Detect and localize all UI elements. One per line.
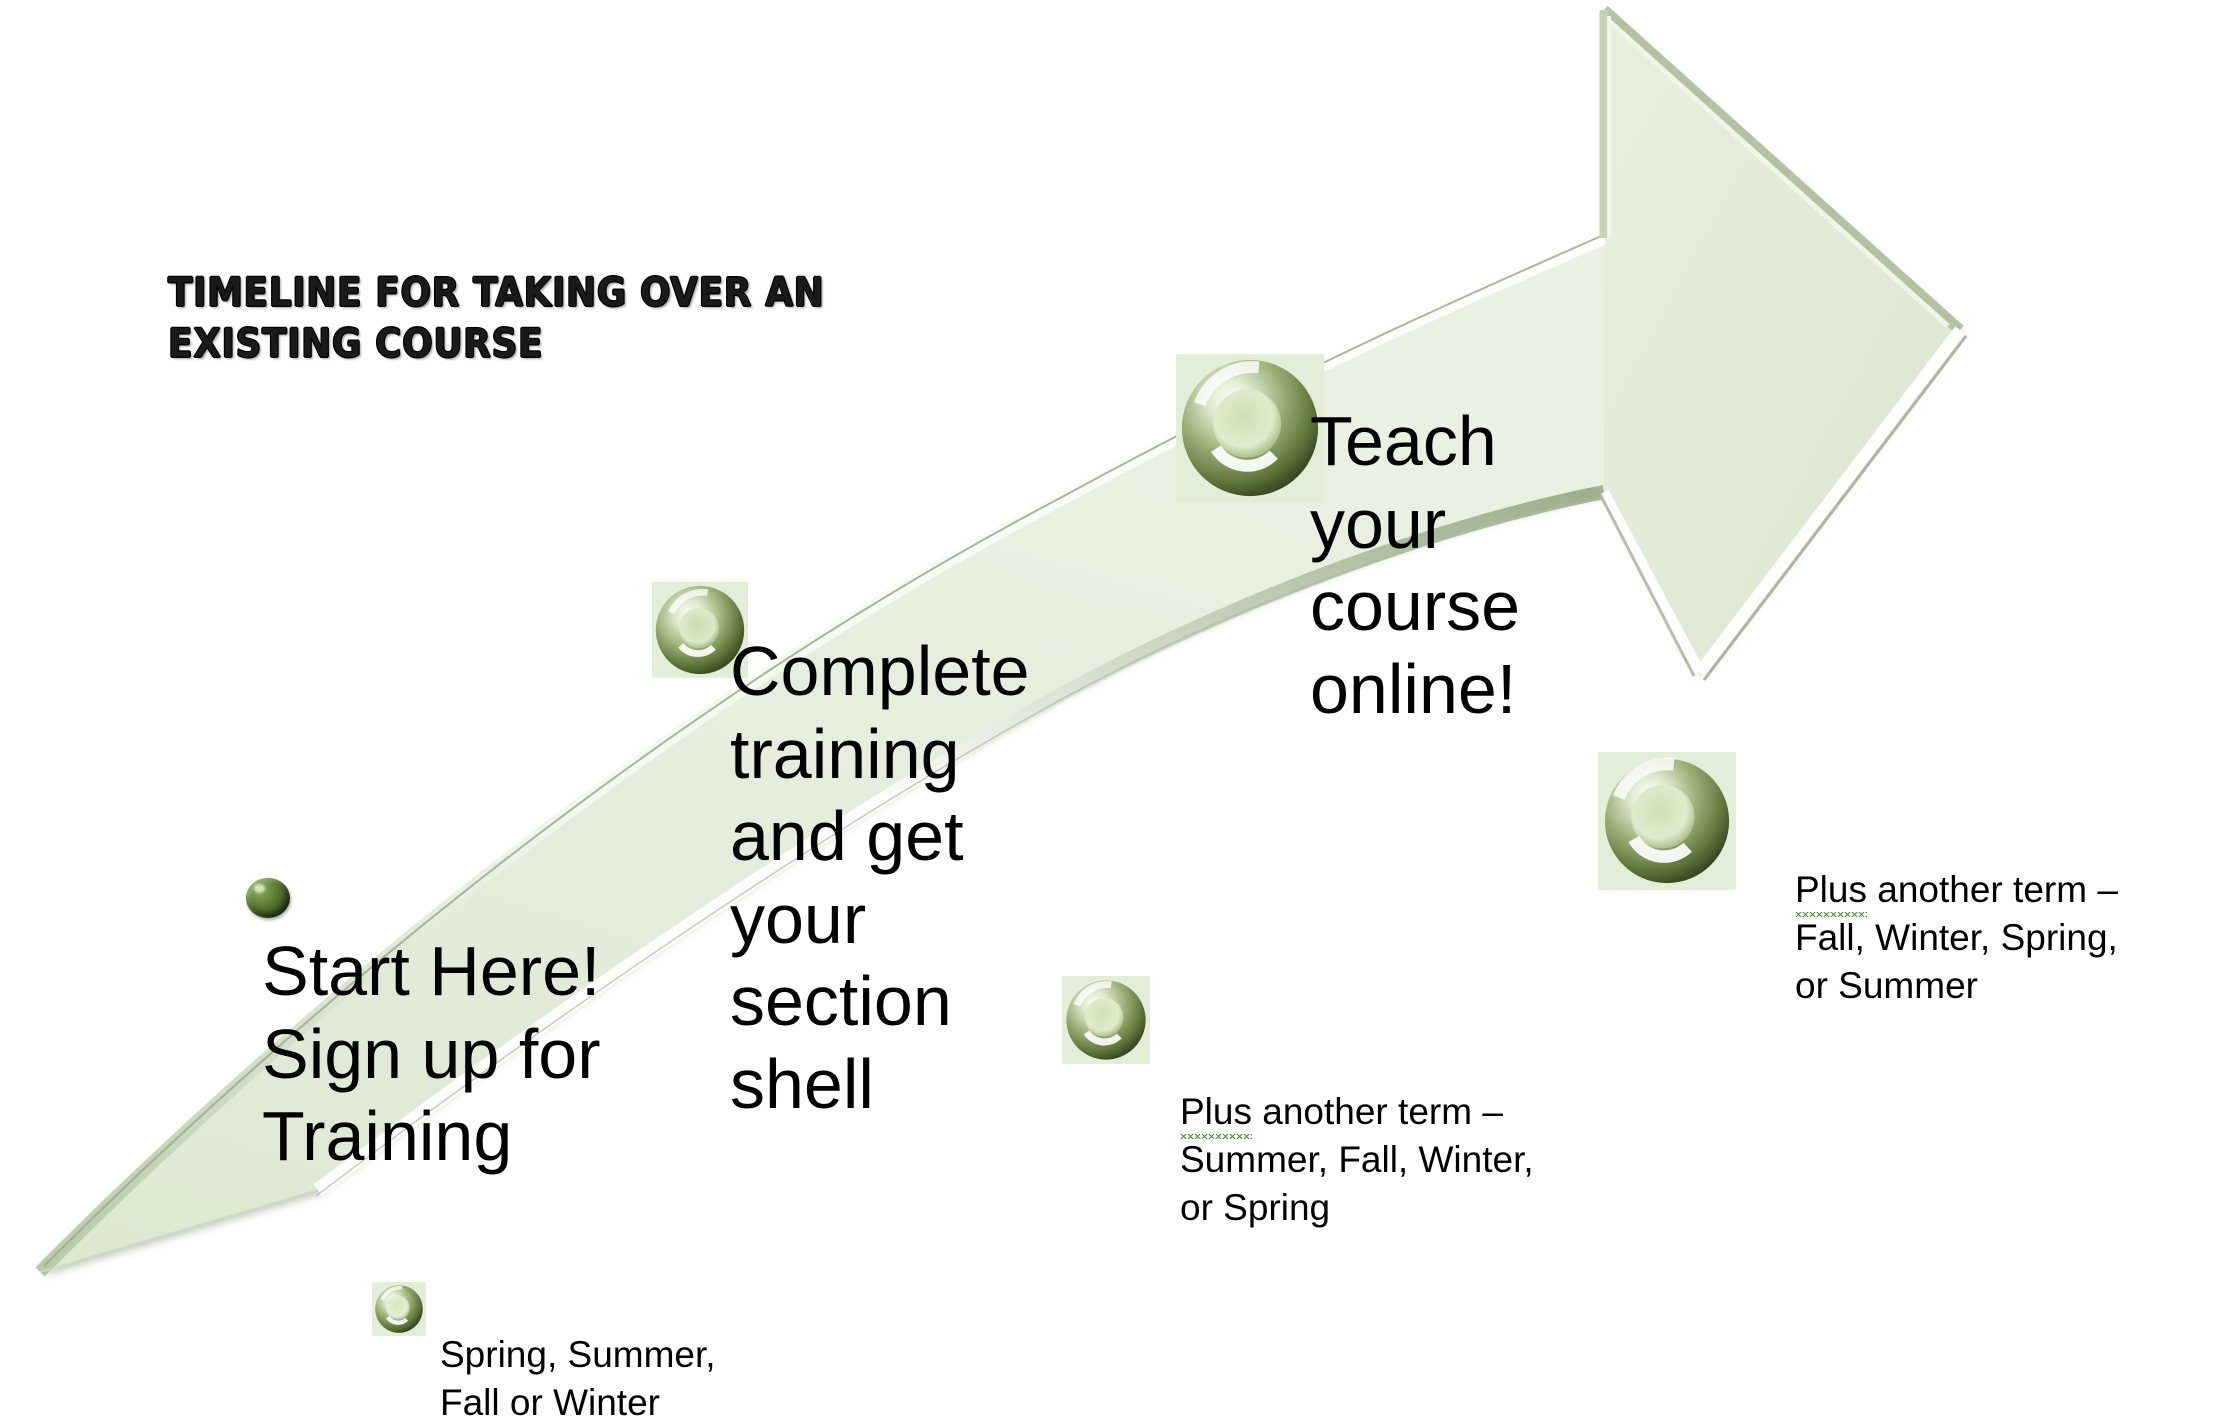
arrow-head-notch-bottom-highlight [1604, 492, 1700, 672]
ring-bullet-icon-step-3 [1176, 354, 1324, 502]
caption-terms-step-2: Plus another term – Summer, Fall, Winter… [1180, 1040, 1680, 1232]
step-label-complete-training: Complete training and get your section s… [730, 630, 1090, 1126]
arrow-head-top-bevel [1604, 10, 1960, 330]
arrow-head-notch-bottom-bevel [1600, 494, 1694, 676]
arrow-tail-tip [40, 1190, 318, 1272]
page-title: TIMELINE FOR TAKING OVER AN EXISTING COU… [168, 268, 928, 370]
caption-terms-step-3: Plus another term – Fall, Winter, Spring… [1795, 818, 2214, 1010]
green-glossy-torus-icon [1598, 752, 1736, 890]
green-glossy-torus-icon [1176, 354, 1324, 502]
curved-arrow-graphic [0, 0, 2214, 1394]
step-label-teach-online: Teach your course online! [1310, 400, 1610, 730]
arrow-head-top-highlight [1610, 22, 1948, 326]
arrow-head [1604, 10, 1960, 672]
arrow-head-bottom-highlight [1700, 330, 1960, 672]
caption-terms-step-1: Spring, Summer, Fall or Winter [440, 1283, 840, 1427]
green-glossy-torus-icon [372, 1282, 426, 1336]
sphere-bullet-icon-step-1 [246, 878, 290, 918]
caption-first-word: Spring, [440, 1334, 557, 1375]
arrow-head-bottom-bevel [1704, 336, 1966, 680]
step-label-start-here: Start Here! Sign up for Training [262, 930, 662, 1178]
ring-bullet-icon-caption-1 [372, 1282, 426, 1336]
slide-canvas: TIMELINE FOR TAKING OVER AN EXISTING COU… [0, 0, 2214, 1394]
ring-bullet-icon-caption-3 [1598, 752, 1736, 890]
caption-first-word-spellchecked: Plus [1180, 1088, 1252, 1136]
caption-first-word-spellchecked: Plus [1795, 866, 1867, 914]
